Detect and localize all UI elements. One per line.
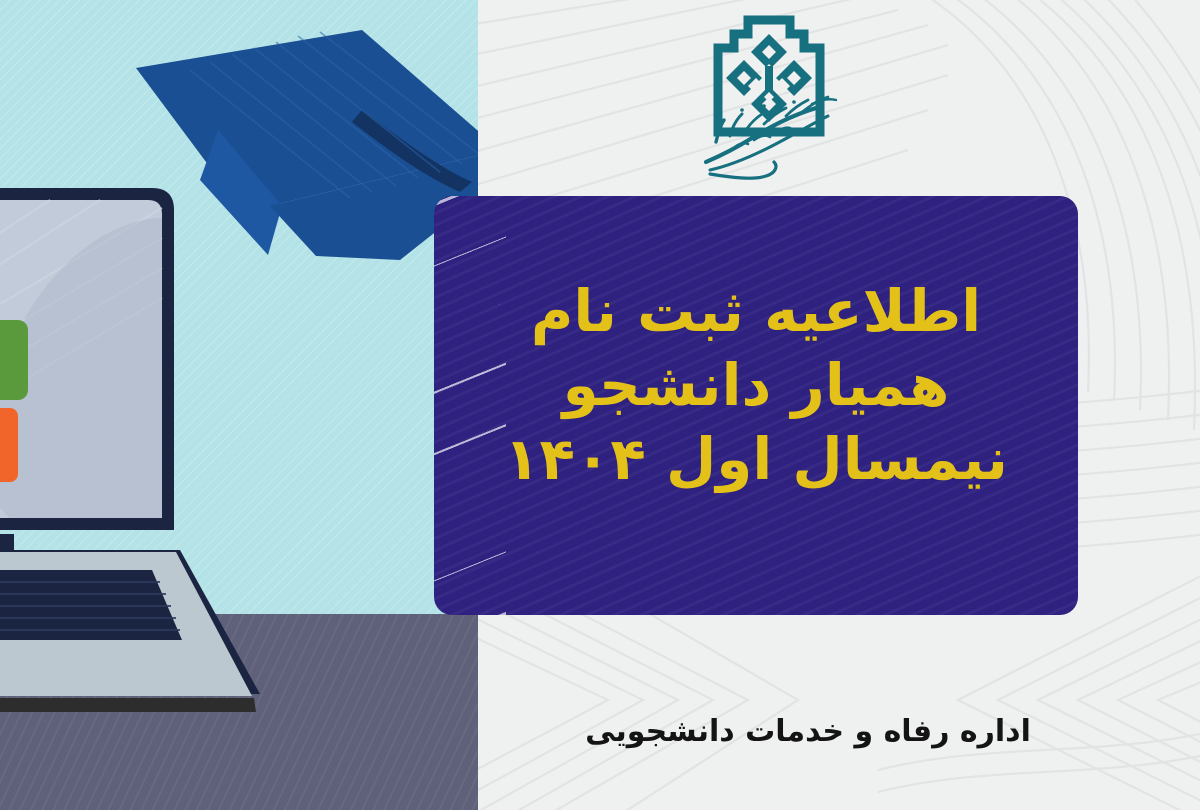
poster-root: دانشگاه حکیم سبزواری — [0, 0, 1200, 810]
headline-line-2: همیار دانشجو — [434, 348, 1078, 422]
issuing-office-label: اداره رفاه و خدمات دانشجویی — [478, 714, 1138, 750]
announcement-panel: اطلاعیه ثبت نام همیار دانشجو نیمسال اول … — [434, 196, 1078, 615]
headline-block: اطلاعیه ثبت نام همیار دانشجو نیمسال اول … — [434, 274, 1078, 497]
illustration-panel — [0, 0, 478, 810]
headline-line-1: اطلاعیه ثبت نام — [434, 274, 1078, 348]
university-logo: دانشگاه حکیم سبزواری — [690, 4, 850, 189]
laptop-with-books-illustration — [0, 178, 460, 778]
headline-line-3: نیمسال اول ۱۴۰۴ — [434, 422, 1078, 496]
university-name-calligraphy: دانشگاه حکیم سبزواری — [690, 86, 850, 186]
